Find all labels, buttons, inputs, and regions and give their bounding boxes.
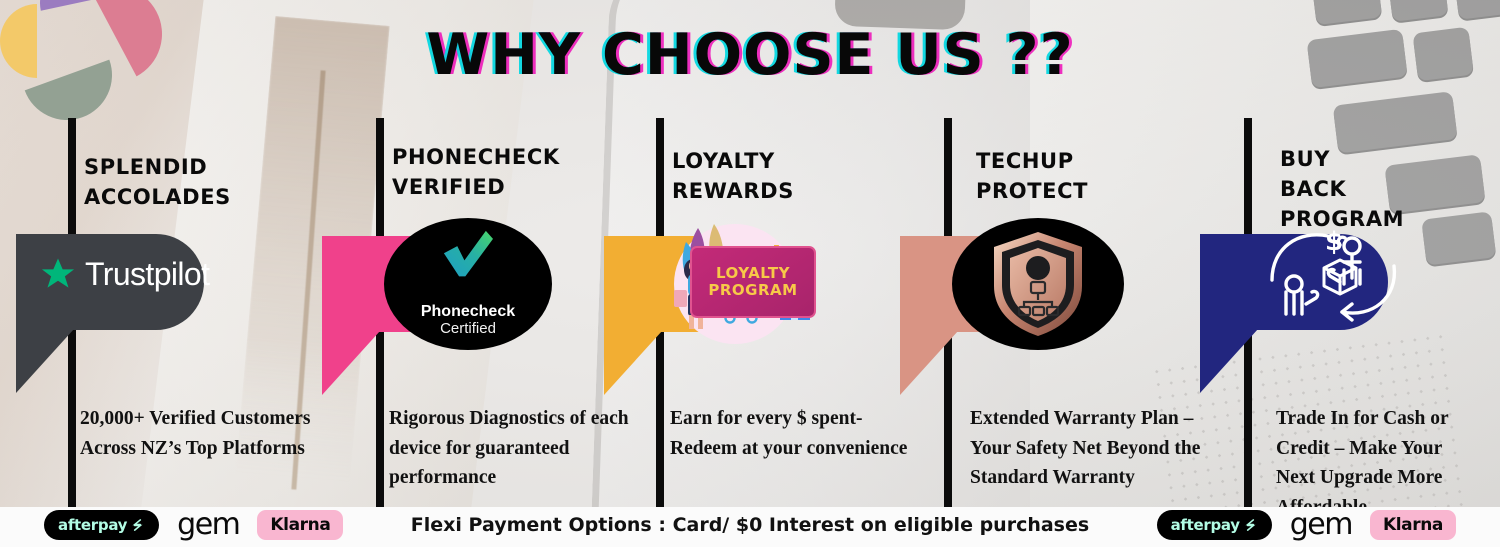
phonecheck-label-line2: Certified (440, 320, 496, 339)
shield-emblem (952, 218, 1124, 350)
afterpay-mark-icon (1243, 519, 1258, 532)
badge-phonecheck: Phonecheck Certified (322, 236, 524, 332)
gem-logo[interactable]: gem (1290, 510, 1352, 540)
feature-description: Earn for every $ spent- Redeem at your c… (670, 404, 918, 463)
badge-loyalty: LOYALTY PROGRAM (604, 236, 800, 332)
loyalty-label-line2: PROGRAM (708, 282, 797, 299)
phonecheck-logo: Phonecheck Certified (384, 218, 552, 350)
afterpay-logo[interactable]: afterpay (1157, 510, 1272, 540)
check-icon (441, 230, 495, 280)
payment-logos-right: afterpay gem Klarna (1157, 510, 1456, 540)
feature-heading: SPLENDID ACCOLADES (84, 152, 231, 212)
badge-techup-protect (900, 236, 1098, 332)
payment-bar: afterpay gem Klarna Flexi Payment Option… (0, 507, 1500, 547)
badge-trustpilot: Trustpilot (16, 234, 204, 330)
feature-description: 20,000+ Verified Customers Across NZ’s T… (80, 404, 352, 463)
shield-icon (986, 228, 1090, 340)
feature-columns: SPLENDID ACCOLADES Trustpilot 20,000+ Ve… (0, 0, 1500, 508)
loyalty-program-board: LOYALTY PROGRAM (690, 246, 816, 318)
feature-description: Trade In for Cash or Credit – Make Your … (1276, 404, 1476, 523)
loyalty-label-line1: LOYALTY (716, 265, 790, 282)
klarna-logo[interactable]: Klarna (1370, 510, 1456, 540)
trustpilot-label: Trustpilot (85, 256, 209, 293)
badge-buy-back: $ (1200, 234, 1388, 330)
loyalty-illustration: LOYALTY PROGRAM (652, 220, 818, 348)
svg-text:$: $ (1325, 227, 1343, 257)
afterpay-label: afterpay (1171, 516, 1240, 534)
feature-heading: TECHUP PROTECT (976, 146, 1088, 206)
feature-description: Extended Warranty Plan – Your Safety Net… (970, 404, 1222, 493)
feature-description: Rigorous Diagnostics of each device for … (389, 404, 641, 493)
feature-heading: PHONECHECK VERIFIED (392, 142, 560, 202)
klarna-label: Klarna (1383, 515, 1443, 535)
trustpilot-logo: Trustpilot (40, 256, 209, 293)
trade-in-icon: $ (1256, 222, 1426, 344)
star-icon (40, 257, 76, 292)
feature-heading: BUY BACK PROGRAM (1280, 144, 1404, 234)
why-choose-us-banner: WHY CHOOSE US ?? SPLENDID ACCOLADES Trus… (0, 0, 1500, 547)
trade-in-illustration: $ (1256, 222, 1426, 344)
feature-heading: LOYALTY REWARDS (672, 146, 794, 206)
phonecheck-label-line1: Phonecheck (421, 303, 515, 321)
